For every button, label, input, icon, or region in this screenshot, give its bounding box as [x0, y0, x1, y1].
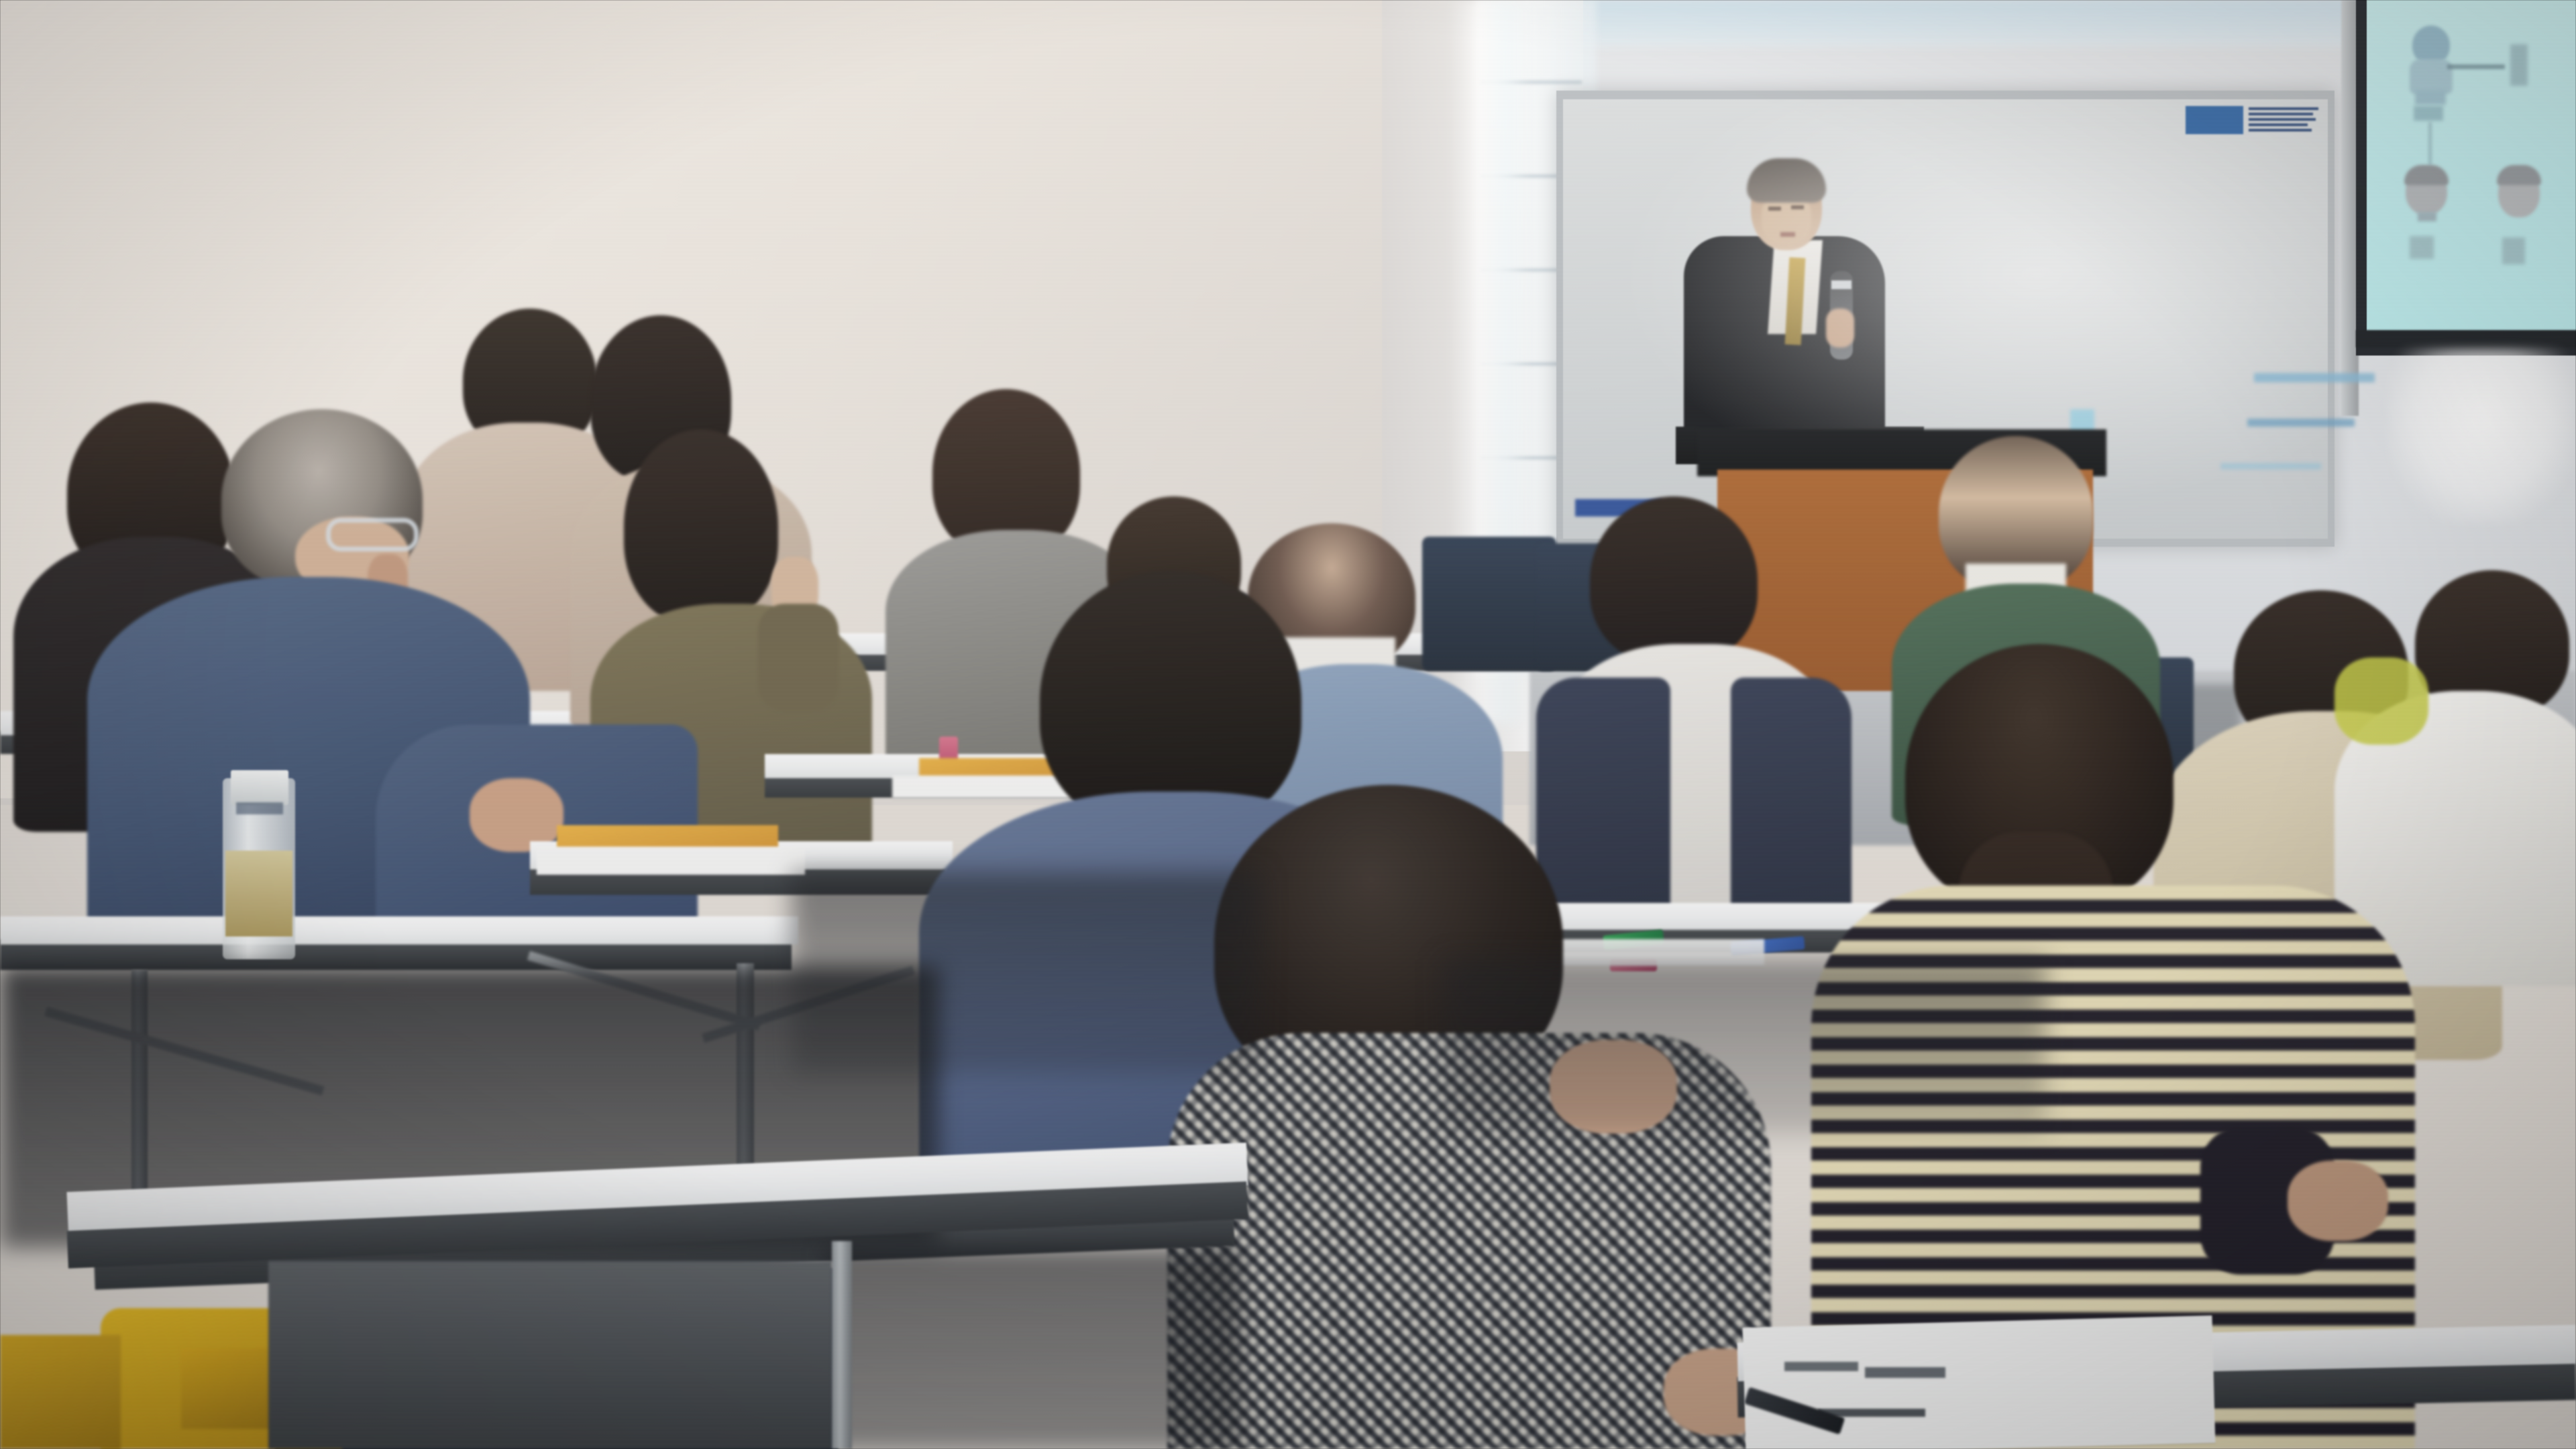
film-grain — [0, 0, 2576, 1449]
seminar-room-photograph — [0, 0, 2576, 1449]
